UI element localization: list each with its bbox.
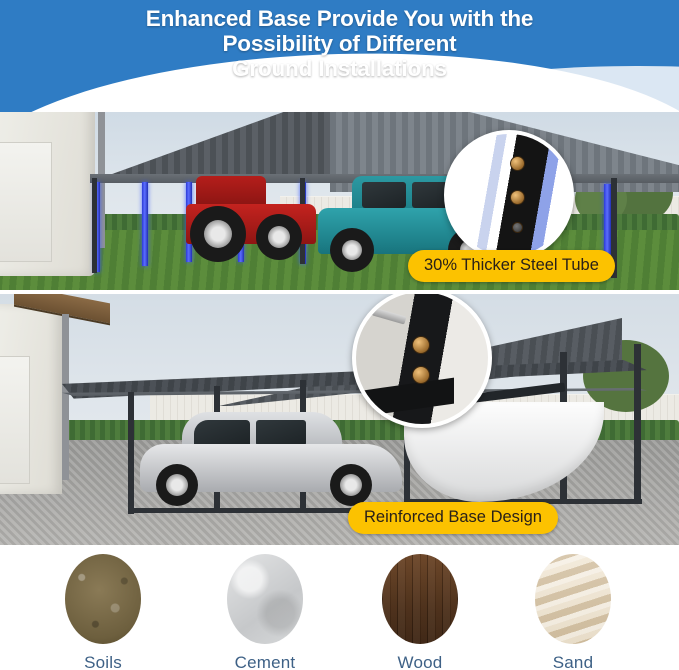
base-plate-closeup-inset [352, 294, 492, 428]
tractor-wheel-rim [268, 226, 290, 248]
title-line-2: Possibility of Different [0, 31, 679, 56]
product-feature-image: Enhanced Base Provide You with the Possi… [0, 0, 679, 670]
page-title: Enhanced Base Provide You with the Possi… [0, 6, 679, 81]
bolt-icon [510, 156, 525, 171]
truck-wheel-rim [342, 240, 362, 260]
ground-item-wood: Wood [345, 554, 495, 670]
garage-door [0, 356, 30, 484]
tractor-wheel-rim [204, 220, 232, 248]
ground-label: Wood [345, 653, 495, 670]
soil-swatch [65, 554, 141, 644]
inset-image [448, 134, 570, 256]
sedan-wheel-rim [340, 474, 362, 496]
carport-post [634, 344, 641, 504]
ground-item-soils: Soils [28, 554, 178, 670]
photo-panel-bottom: Reinforced Base Design [0, 294, 679, 545]
ground-types-row: Soils Cement Wood Sand [0, 546, 679, 670]
bolt-icon [512, 222, 523, 233]
bolt-icon [412, 366, 430, 384]
truck-window [362, 182, 406, 208]
carport-post [128, 392, 134, 514]
garage-door [0, 142, 52, 262]
sand-swatch [535, 554, 611, 644]
bolt-icon [412, 336, 430, 354]
carport-post-highlight [142, 182, 148, 266]
ground-label: Sand [498, 653, 648, 670]
ground-label: Soils [28, 653, 178, 670]
sedan-window [256, 420, 306, 446]
ground-label: Cement [190, 653, 340, 670]
title-line-1: Enhanced Base Provide You with the [0, 6, 679, 31]
cement-swatch [227, 554, 303, 644]
bolt-icon [510, 190, 525, 205]
wood-swatch [382, 554, 458, 644]
sedan-window [194, 420, 250, 446]
title-line-3: Ground Installations [0, 56, 679, 81]
ground-item-sand: Sand [498, 554, 648, 670]
steel-tube-closeup-inset [444, 130, 574, 260]
header-banner: Enhanced Base Provide You with the Possi… [0, 0, 679, 112]
badge-thicker-steel-tube: 30% Thicker Steel Tube [408, 250, 615, 282]
carport-post [92, 178, 97, 273]
downspout [62, 314, 69, 480]
ground-item-cement: Cement [190, 554, 340, 670]
sedan-wheel-rim [166, 474, 188, 496]
badge-reinforced-base-design: Reinforced Base Design [348, 502, 558, 534]
